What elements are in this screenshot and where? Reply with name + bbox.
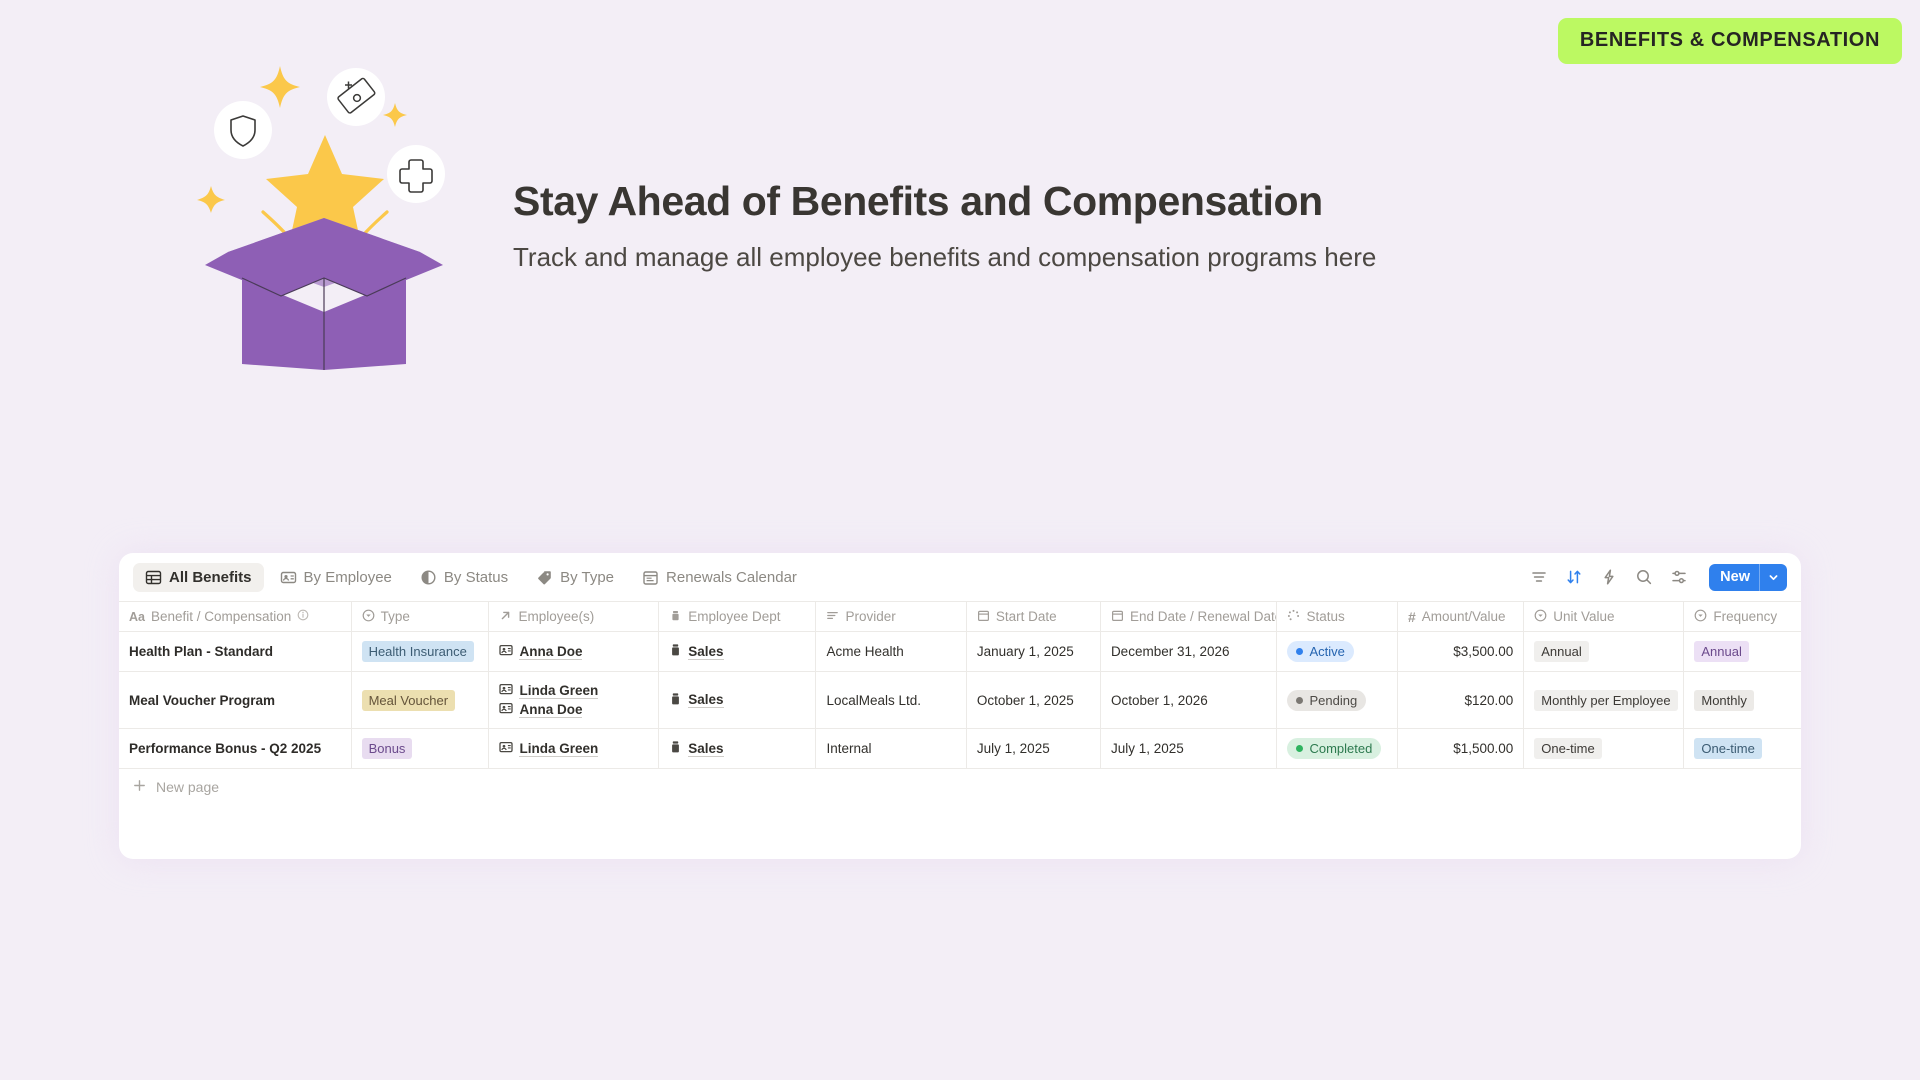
table-row[interactable]: Performance Bonus - Q2 2025BonusLinda Gr…	[119, 729, 1801, 769]
column-label: Employee Dept	[688, 609, 780, 624]
employee-chip[interactable]: Linda Green	[499, 739, 648, 758]
medical-cross-icon	[387, 145, 445, 203]
column-header-amount[interactable]: # Amount/Value	[1398, 602, 1524, 631]
shield-icon	[214, 101, 272, 159]
text-lines-icon	[826, 609, 839, 625]
table-header-row: Aa Benefit / Compensation Type Employee(…	[119, 601, 1801, 632]
pie-chart-icon	[420, 569, 437, 586]
amount-text: $1,500.00	[1453, 741, 1513, 756]
status-badge: Pending	[1287, 690, 1366, 711]
column-label: Frequency	[1713, 609, 1777, 624]
view-tabs: All Benefits By Employee By Status	[133, 563, 809, 592]
automation-icon[interactable]	[1600, 568, 1618, 586]
start-date-text: July 1, 2025	[977, 741, 1090, 756]
cell-amount[interactable]: $3,500.00	[1398, 632, 1524, 671]
column-header-end-date[interactable]: End Date / Renewal Date	[1101, 602, 1278, 631]
tab-by-type[interactable]: By Type	[524, 563, 626, 592]
hero-text-block: Stay Ahead of Benefits and Compensation …	[513, 178, 1593, 276]
column-label: Unit Value	[1553, 609, 1614, 624]
record-title: Health Plan - Standard	[129, 644, 341, 659]
toolbar-actions: New	[1530, 564, 1787, 591]
column-header-type[interactable]: Type	[352, 602, 490, 631]
column-header-frequency[interactable]: Frequency	[1684, 602, 1801, 631]
table-icon	[145, 569, 162, 586]
status-icon	[1287, 609, 1300, 625]
table-body: Health Plan - StandardHealth InsuranceAn…	[119, 632, 1801, 769]
gift-box-with-star-illustration	[185, 50, 460, 370]
money-tag-icon	[327, 68, 385, 126]
cell-provider[interactable]: Internal	[816, 729, 966, 768]
building-icon	[669, 692, 682, 709]
cell-employees[interactable]: Linda Green	[489, 729, 659, 768]
tag: One-time	[1534, 738, 1601, 759]
column-label: Start Date	[996, 609, 1057, 624]
column-header-start-date[interactable]: Start Date	[967, 602, 1101, 631]
tag: Annual	[1694, 641, 1748, 662]
cell-end-date[interactable]: October 1, 2026	[1101, 672, 1278, 728]
employee-chip[interactable]: Anna Doe	[499, 642, 648, 661]
select-icon	[1694, 609, 1707, 625]
provider-text: Internal	[826, 741, 955, 756]
tab-all-benefits[interactable]: All Benefits	[133, 563, 264, 592]
cell-start-date[interactable]: July 1, 2025	[967, 729, 1101, 768]
record-title: Meal Voucher Program	[129, 693, 341, 708]
column-header-employees[interactable]: Employee(s)	[489, 602, 659, 631]
relation-icon	[499, 609, 512, 625]
column-label: Amount/Value	[1422, 609, 1506, 624]
status-dot	[1296, 697, 1303, 704]
person-icon	[499, 682, 513, 699]
building-icon	[669, 740, 682, 757]
tag: Monthly per Employee	[1534, 690, 1677, 711]
info-icon[interactable]	[297, 609, 309, 624]
filter-icon[interactable]	[1530, 568, 1548, 586]
new-button-label: New	[1709, 569, 1759, 585]
status-badge: Completed	[1287, 738, 1381, 759]
chevron-down-icon[interactable]	[1760, 572, 1787, 583]
page-subtitle: Track and manage all employee benefits a…	[513, 240, 1523, 276]
rollup-icon	[669, 609, 682, 625]
tag: Bonus	[362, 738, 413, 759]
cell-start-date[interactable]: October 1, 2025	[967, 672, 1101, 728]
tag: One-time	[1694, 738, 1761, 759]
amount-text: $3,500.00	[1453, 644, 1513, 659]
cell-end-date[interactable]: December 31, 2026	[1101, 632, 1278, 671]
end-date-text: December 31, 2026	[1111, 644, 1267, 659]
cell-amount[interactable]: $1,500.00	[1398, 729, 1524, 768]
dept-chip[interactable]: Sales	[669, 692, 805, 709]
cell-provider[interactable]: LocalMeals Ltd.	[816, 672, 966, 728]
column-label: Employee(s)	[518, 609, 594, 624]
select-icon	[362, 609, 375, 625]
cell-end-date[interactable]: July 1, 2025	[1101, 729, 1278, 768]
cell-benefit-name[interactable]: Meal Voucher Program	[119, 672, 352, 728]
cell-benefit-name[interactable]: Health Plan - Standard	[119, 632, 352, 671]
cell-amount[interactable]: $120.00	[1398, 672, 1524, 728]
column-label: Status	[1306, 609, 1344, 624]
dept-chip[interactable]: Sales	[669, 643, 805, 660]
tag: Annual	[1534, 641, 1588, 662]
cell-dept[interactable]: Sales	[659, 729, 816, 768]
column-label: Provider	[845, 609, 895, 624]
employee-name: Linda Green	[519, 741, 598, 757]
hero-section: Stay Ahead of Benefits and Compensation …	[0, 0, 1920, 420]
tab-label: By Employee	[304, 569, 392, 586]
box-flap-left	[205, 218, 324, 296]
new-page-button[interactable]: New page	[119, 769, 1801, 805]
cell-unit-value[interactable]: One-time	[1524, 729, 1684, 768]
tab-label: All Benefits	[169, 569, 252, 586]
sort-icon[interactable]	[1565, 568, 1583, 586]
cell-unit-value[interactable]: Monthly per Employee	[1524, 672, 1684, 728]
text-type-icon: Aa	[129, 610, 145, 624]
column-header-benefit[interactable]: Aa Benefit / Compensation	[119, 602, 352, 631]
database-card: All Benefits By Employee By Status	[119, 553, 1801, 859]
tag: Meal Voucher	[362, 690, 456, 711]
record-title: Performance Bonus - Q2 2025	[129, 741, 341, 756]
dept-name: Sales	[688, 741, 723, 757]
cell-type[interactable]: Health Insurance	[352, 632, 490, 671]
new-page-label: New page	[156, 779, 219, 795]
search-icon[interactable]	[1635, 568, 1653, 586]
tab-by-employee[interactable]: By Employee	[268, 563, 404, 592]
employee-name: Anna Doe	[519, 702, 582, 718]
dept-name: Sales	[688, 692, 723, 708]
cell-start-date[interactable]: January 1, 2025	[967, 632, 1101, 671]
cell-status[interactable]: Completed	[1277, 729, 1398, 768]
cell-dept[interactable]: Sales	[659, 672, 816, 728]
column-label: End Date / Renewal Date	[1130, 609, 1278, 624]
dept-chip[interactable]: Sales	[669, 740, 805, 757]
column-header-status[interactable]: Status	[1277, 602, 1398, 631]
tab-by-status[interactable]: By Status	[408, 563, 520, 592]
status-badge: Active	[1287, 641, 1353, 662]
calendar-icon	[977, 609, 990, 625]
cell-employees[interactable]: Linda GreenAnna Doe	[489, 672, 659, 728]
table-row[interactable]: Health Plan - StandardHealth InsuranceAn…	[119, 632, 1801, 672]
benefits-table: Aa Benefit / Compensation Type Employee(…	[119, 601, 1801, 805]
status-dot	[1296, 648, 1303, 655]
cell-type[interactable]: Meal Voucher	[352, 672, 490, 728]
amount-text: $120.00	[1464, 693, 1513, 708]
box-flap-right	[324, 218, 443, 296]
cell-frequency[interactable]: One-time	[1684, 729, 1801, 768]
tag: Health Insurance	[362, 641, 474, 662]
column-header-provider[interactable]: Provider	[816, 602, 966, 631]
tab-label: By Status	[444, 569, 508, 586]
select-icon	[1534, 609, 1547, 625]
number-icon: #	[1408, 610, 1416, 624]
provider-text: LocalMeals Ltd.	[826, 693, 955, 708]
status-dot	[1296, 745, 1303, 752]
calendar-icon	[1111, 609, 1124, 625]
tag: Monthly	[1694, 690, 1754, 711]
database-toolbar: All Benefits By Employee By Status	[119, 553, 1801, 601]
cell-type[interactable]: Bonus	[352, 729, 490, 768]
cell-frequency[interactable]: Annual	[1684, 632, 1801, 671]
tab-label: By Type	[560, 569, 614, 586]
cell-employees[interactable]: Anna Doe	[489, 632, 659, 671]
start-date-text: October 1, 2025	[977, 693, 1090, 708]
calendar-icon	[642, 569, 659, 586]
cell-provider[interactable]: Acme Health	[816, 632, 966, 671]
provider-text: Acme Health	[826, 644, 955, 659]
end-date-text: October 1, 2026	[1111, 693, 1267, 708]
column-label: Benefit / Compensation	[151, 609, 291, 624]
new-record-button[interactable]: New	[1709, 564, 1787, 591]
employee-name: Anna Doe	[519, 644, 582, 660]
table-row[interactable]: Meal Voucher ProgramMeal VoucherLinda Gr…	[119, 672, 1801, 729]
dept-name: Sales	[688, 644, 723, 660]
page-root: BENEFITS & COMPENSATION	[0, 0, 1920, 1080]
column-header-unit-value[interactable]: Unit Value	[1524, 602, 1684, 631]
column-label: Type	[381, 609, 410, 624]
plus-icon	[133, 779, 146, 795]
start-date-text: January 1, 2025	[977, 644, 1090, 659]
cell-status[interactable]: Pending	[1277, 672, 1398, 728]
page-title: Stay Ahead of Benefits and Compensation	[513, 178, 1593, 225]
cell-dept[interactable]: Sales	[659, 632, 816, 671]
tab-label: Renewals Calendar	[666, 569, 797, 586]
end-date-text: July 1, 2025	[1111, 741, 1267, 756]
building-icon	[669, 643, 682, 660]
cell-status[interactable]: Active	[1277, 632, 1398, 671]
employee-name: Linda Green	[519, 683, 598, 699]
id-card-icon	[280, 569, 297, 586]
view-settings-icon[interactable]	[1670, 568, 1688, 586]
person-icon	[499, 643, 513, 660]
cell-benefit-name[interactable]: Performance Bonus - Q2 2025	[119, 729, 352, 768]
cell-unit-value[interactable]: Annual	[1524, 632, 1684, 671]
cell-frequency[interactable]: Monthly	[1684, 672, 1801, 728]
person-icon	[499, 740, 513, 757]
person-icon	[499, 701, 513, 718]
employee-chip[interactable]: Linda Green	[499, 681, 648, 700]
employee-chip[interactable]: Anna Doe	[499, 700, 648, 719]
tab-renewals-calendar[interactable]: Renewals Calendar	[630, 563, 809, 592]
tag-icon	[536, 569, 553, 586]
column-header-dept[interactable]: Employee Dept	[659, 602, 816, 631]
